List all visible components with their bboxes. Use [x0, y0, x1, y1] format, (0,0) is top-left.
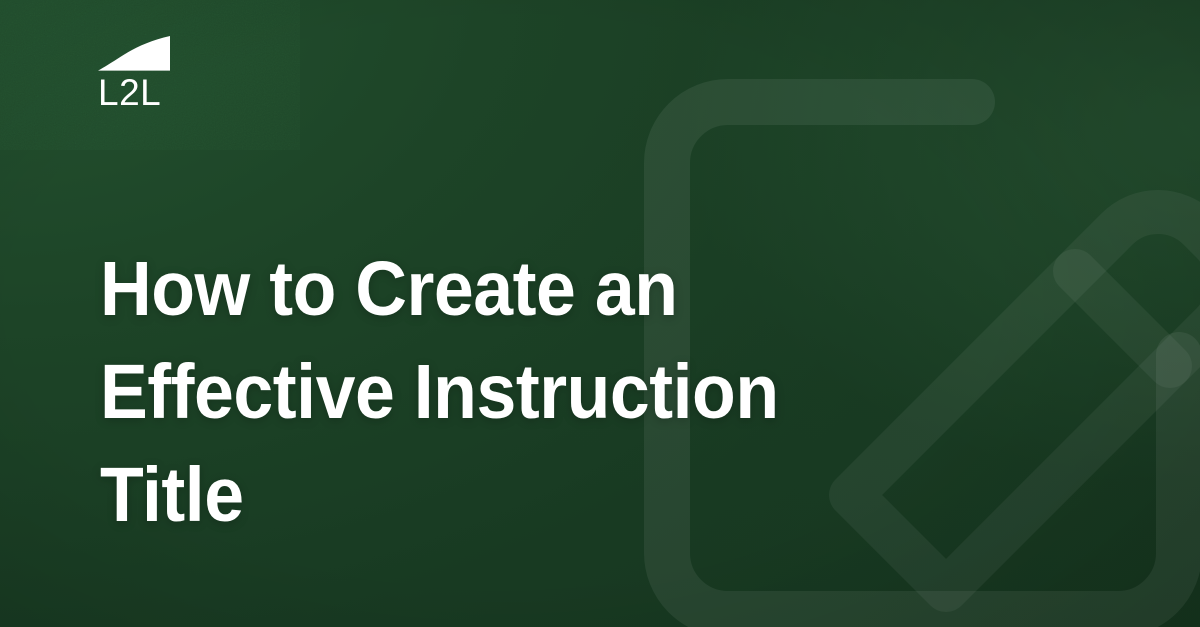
- page-title-line-1: How to Create an: [100, 238, 900, 341]
- blog-title-card: L2L How to Create an Effective Instructi…: [0, 0, 1200, 627]
- growth-curve-swoosh-icon: [98, 36, 170, 72]
- l2l-logo[interactable]: L2L: [98, 36, 218, 114]
- l2l-wordmark: L2L: [98, 74, 218, 111]
- page-title: How to Create an Effective Instruction T…: [100, 238, 900, 547]
- page-title-line-3: Title: [100, 444, 900, 547]
- page-title-line-2: Effective Instruction: [100, 341, 900, 444]
